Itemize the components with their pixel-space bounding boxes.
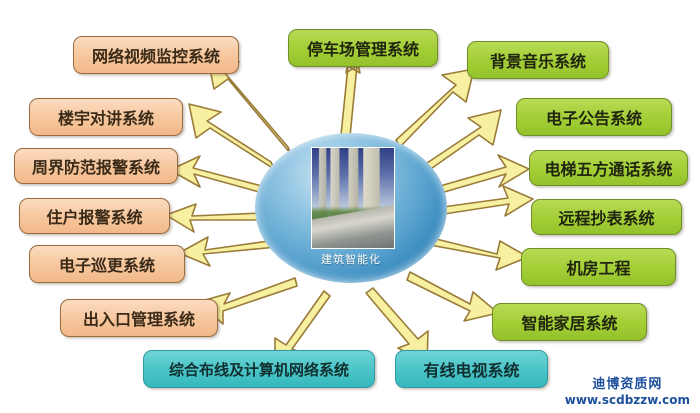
arrow-to-smart-home [407,272,498,321]
node-label: 网络视频监控系统 [92,43,220,67]
central-hub: 建筑智能化 [255,133,447,283]
node-building-intercom[interactable]: 楼宇对讲系统 [29,98,183,136]
node-resident-alarm[interactable]: 住户报警系统 [19,198,170,234]
node-structured-cabling-network[interactable]: 综合布线及计算机网络系统 [143,350,375,388]
node-cable-television[interactable]: 有线电视系统 [395,350,548,388]
node-machine-room-project[interactable]: 机房工程 [521,248,676,286]
node-label: 出入口管理系统 [83,306,195,330]
node-label: 楼宇对讲系统 [58,105,154,129]
node-label: 背景音乐系统 [490,48,586,72]
hub-label: 建筑智能化 [255,251,447,267]
residential-buildings-photo [311,147,395,249]
arrow-to-building-intercom [189,104,274,169]
arrow-to-remote-meter-reading [443,186,533,216]
node-smart-home[interactable]: 智能家居系统 [492,303,647,341]
node-label: 周界防范报警系统 [32,154,160,178]
node-label: 电梯五方通话系统 [544,156,672,180]
node-electronic-patrol[interactable]: 电子巡更系统 [29,245,185,283]
node-label: 远程抄表系统 [558,205,654,229]
node-electronic-bulletin[interactable]: 电子公告系统 [516,98,672,136]
watermark-site-name: 迪博资质网 [565,373,690,392]
node-perimeter-alarm[interactable]: 周界防范报警系统 [14,148,178,184]
node-label: 智能家居系统 [521,310,617,334]
node-label: 机房工程 [566,255,630,279]
node-label: 综合布线及计算机网络系统 [169,359,349,380]
arrow-to-resident-alarm [166,204,262,232]
node-network-video-surveillance[interactable]: 网络视频监控系统 [73,36,239,74]
node-background-music[interactable]: 背景音乐系统 [467,41,609,79]
node-label: 停车场管理系统 [307,36,419,60]
node-label: 住户报警系统 [46,204,142,228]
node-label: 电子公告系统 [546,105,642,129]
node-elevator-five-party-intercom[interactable]: 电梯五方通话系统 [529,150,688,186]
node-label: 有线电视系统 [423,357,519,381]
node-parking-management[interactable]: 停车场管理系统 [288,29,438,67]
watermark-url: www.scdbzzw.com [565,393,690,407]
node-entrance-exit-management[interactable]: 出入口管理系统 [60,299,218,337]
arrow-to-elevator-five-party [440,155,529,193]
diagram-canvas: 建筑智能化 网络视频监控系统停车场管理系统背景音乐系统楼宇对讲系统电子公告系统周… [0,0,700,413]
arrow-to-perimeter-alarm [170,156,263,193]
node-label: 电子巡更系统 [59,252,155,276]
node-remote-meter-reading[interactable]: 远程抄表系统 [531,199,682,235]
arrow-to-background-music [396,69,474,147]
watermark: 迪博资质网 www.scdbzzw.com [565,373,690,407]
